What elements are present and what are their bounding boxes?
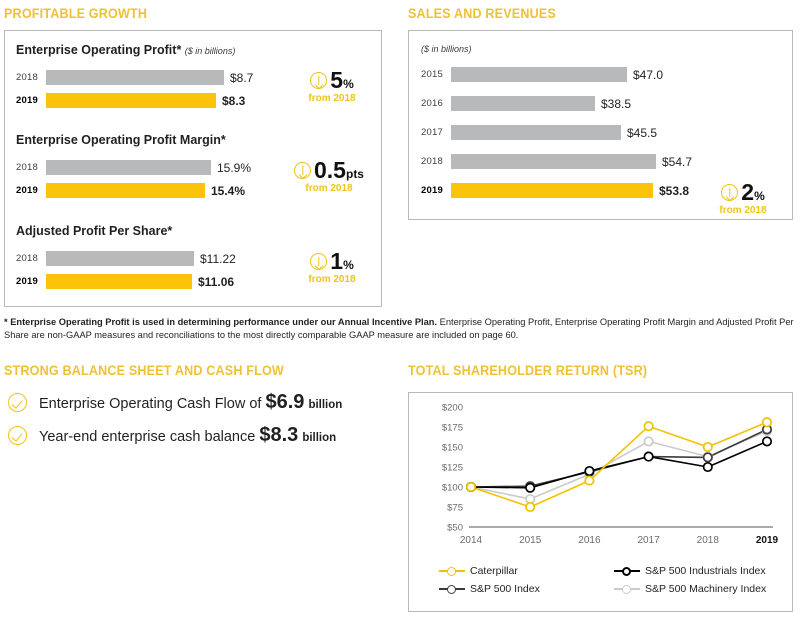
table-row: 2019 $8.3: [16, 93, 245, 108]
checklist-text: Enterprise Operating Cash Flow of $6.9 b…: [39, 391, 342, 414]
group-title: Adjusted Profit Per Share*: [16, 224, 172, 238]
bar-fill: [46, 251, 194, 266]
bar-fill: [451, 67, 627, 82]
table-row: 2018 $8.7: [16, 70, 253, 85]
y-axis-tick-label: $100: [442, 483, 463, 494]
x-axis-tick-label: 2017: [637, 535, 660, 546]
checklist: Enterprise Operating Cash Flow of $6.9 b…: [8, 391, 388, 457]
data-point: [763, 437, 771, 445]
y-axis-tick-label: $200: [442, 403, 463, 414]
group-title: Enterprise Operating Profit* ($ in billi…: [16, 43, 235, 57]
legend-swatch-icon: [614, 584, 640, 595]
checklist-unit: billion: [308, 399, 342, 411]
bar-fill: [46, 183, 205, 198]
profit-group-adjusted-eps: Adjusted Profit Per Share*: [16, 224, 172, 238]
profit-group-operating-margin: Enterprise Operating Profit Margin*: [16, 133, 226, 147]
bar-value: $11.06: [198, 275, 234, 289]
delta-badge: 1 % from 2018: [286, 250, 378, 285]
y-axis-tick-label: $75: [447, 503, 463, 514]
bar-year: 2019: [421, 185, 451, 196]
data-point: [704, 453, 712, 461]
x-axis-tick-label: 2016: [578, 535, 601, 546]
bar-fill: [451, 183, 653, 198]
legend-item-caterpillar: Caterpillar: [439, 565, 614, 577]
x-axis-tick-label: 2015: [519, 535, 542, 546]
delta-number: 5: [330, 69, 343, 92]
legend-swatch-icon: [439, 584, 465, 595]
bar-year: 2018: [16, 72, 46, 83]
bar-year: 2017: [421, 127, 451, 138]
x-axis-tick-label: 2019: [756, 535, 779, 546]
tsr-line-chart: $50$75$100$125$150$175$20020142015201620…: [409, 393, 792, 563]
bar-fill: [46, 160, 211, 175]
table-row: 2017 $45.5: [421, 125, 657, 140]
legend-swatch-icon: [439, 566, 465, 577]
bar-year: 2018: [16, 162, 46, 173]
list-item: Enterprise Operating Cash Flow of $6.9 b…: [8, 391, 388, 414]
bar-value: $53.8: [659, 184, 689, 198]
table-row: 2015 $47.0: [421, 67, 663, 82]
section-title-profitable-growth: PROFITABLE GROWTH: [4, 6, 147, 21]
bar-value: $8.3: [222, 94, 245, 108]
bar-value: 15.9%: [217, 161, 251, 175]
arrow-down-icon: [310, 253, 327, 270]
section-title-sales-revenues: SALES AND REVENUES: [408, 6, 556, 21]
y-axis-tick-label: $175: [442, 423, 463, 434]
footnote-bold: * Enterprise Operating Profit is used in…: [4, 317, 437, 327]
delta-unit: pts: [346, 167, 364, 181]
bar-year: 2019: [16, 185, 46, 196]
bar-fill: [451, 154, 656, 169]
x-axis-tick-label: 2014: [460, 535, 483, 546]
group-units: ($ in billions): [185, 46, 236, 56]
y-axis-tick-label: $125: [442, 463, 463, 474]
check-circle-icon: [8, 426, 27, 445]
data-point: [704, 443, 712, 451]
section-title-tsr: TOTAL SHAREHOLDER RETURN (TSR): [408, 363, 647, 378]
data-point: [526, 503, 534, 511]
table-row: 2018 15.9%: [16, 160, 251, 175]
x-axis-tick-label: 2018: [697, 535, 720, 546]
data-point: [585, 467, 593, 475]
bar-year: 2019: [16, 95, 46, 106]
data-point: [644, 437, 652, 445]
bar-value: $38.5: [601, 97, 631, 111]
legend-label: S&P 500 Industrials Index: [645, 565, 766, 577]
legend-item-sp500-machinery: S&P 500 Machinery Index: [614, 583, 789, 595]
footnote: * Enterprise Operating Profit is used in…: [4, 316, 796, 343]
data-point: [644, 422, 652, 430]
bar-fill: [451, 125, 621, 140]
legend-item-sp500-industrials: S&P 500 Industrials Index: [614, 565, 789, 577]
check-circle-icon: [8, 393, 27, 412]
delta-badge: 2 % from 2018: [700, 181, 786, 216]
delta-badge: 0.5 pts from 2018: [277, 159, 381, 194]
delta-from: from 2018: [286, 93, 378, 104]
delta-from: from 2018: [286, 274, 378, 285]
data-point: [644, 452, 652, 460]
profit-group-operating-profit: Enterprise Operating Profit* ($ in billi…: [16, 43, 235, 57]
bar-fill: [46, 93, 216, 108]
legend-label: S&P 500 Machinery Index: [645, 583, 766, 595]
delta-number: 1: [330, 250, 343, 273]
y-axis-tick-label: $150: [442, 443, 463, 454]
table-row: 2018 $54.7: [421, 154, 692, 169]
delta-unit: %: [343, 258, 354, 272]
table-row: 2016 $38.5: [421, 96, 631, 111]
legend-swatch-icon: [614, 566, 640, 577]
table-row: 2019 $11.06: [16, 274, 234, 289]
bar-value: $45.5: [627, 126, 657, 140]
arrow-down-icon: [721, 184, 738, 201]
bar-value: $54.7: [662, 155, 692, 169]
bar-value: $11.22: [200, 252, 236, 266]
bar-fill: [46, 70, 224, 85]
table-row: 2019 $53.8: [421, 183, 689, 198]
list-item: Year-end enterprise cash balance $8.3 bi…: [8, 424, 388, 447]
chart-legend: Caterpillar S&P 500 Industrials Index S&…: [439, 565, 789, 595]
checklist-amount: $6.9: [265, 391, 304, 413]
y-axis-tick-label: $50: [447, 523, 463, 534]
series-line: [471, 441, 767, 487]
section-title-balance-sheet: STRONG BALANCE SHEET AND CASH FLOW: [4, 363, 284, 378]
bar-year: 2019: [16, 276, 46, 287]
bar-year: 2018: [421, 156, 451, 167]
data-point: [526, 484, 534, 492]
checklist-amount: $8.3: [259, 424, 298, 446]
legend-label: Caterpillar: [470, 565, 518, 577]
delta-number: 2: [741, 181, 754, 204]
tsr-chart-panel: $50$75$100$125$150$175$20020142015201620…: [408, 392, 793, 612]
bar-fill: [46, 274, 192, 289]
data-point: [763, 418, 771, 426]
checklist-label: Year-end enterprise cash balance: [39, 429, 259, 445]
delta-from: from 2018: [277, 183, 381, 194]
bar-value: 15.4%: [211, 184, 245, 198]
profitable-growth-panel: Enterprise Operating Profit* ($ in billi…: [4, 30, 382, 307]
data-point: [704, 463, 712, 471]
delta-from: from 2018: [700, 205, 786, 216]
delta-badge: 5 % from 2018: [286, 69, 378, 104]
bar-value: $47.0: [633, 68, 663, 82]
data-point: [585, 476, 593, 484]
bar-year: 2016: [421, 98, 451, 109]
legend-item-sp500: S&P 500 Index: [439, 583, 614, 595]
bar-year: 2018: [16, 253, 46, 264]
table-row: 2018 $11.22: [16, 251, 236, 266]
arrow-down-icon: [294, 162, 311, 179]
bar-value: $8.7: [230, 71, 253, 85]
arrow-down-icon: [310, 72, 327, 89]
checklist-unit: billion: [302, 432, 336, 444]
legend-label: S&P 500 Index: [470, 583, 540, 595]
delta-unit: %: [754, 189, 765, 203]
sales-revenues-panel: ($ in billions) 2015 $47.0 2016 $38.5 20…: [408, 30, 793, 220]
sales-units: ($ in billions): [421, 44, 472, 54]
group-title: Enterprise Operating Profit Margin*: [16, 133, 226, 147]
bar-fill: [451, 96, 595, 111]
delta-number: 0.5: [314, 159, 346, 182]
data-point: [526, 495, 534, 503]
bar-year: 2015: [421, 69, 451, 80]
data-point: [467, 483, 475, 491]
delta-unit: %: [343, 77, 354, 91]
table-row: 2019 15.4%: [16, 183, 245, 198]
checklist-label: Enterprise Operating Cash Flow of: [39, 396, 265, 412]
checklist-text: Year-end enterprise cash balance $8.3 bi…: [39, 424, 336, 447]
